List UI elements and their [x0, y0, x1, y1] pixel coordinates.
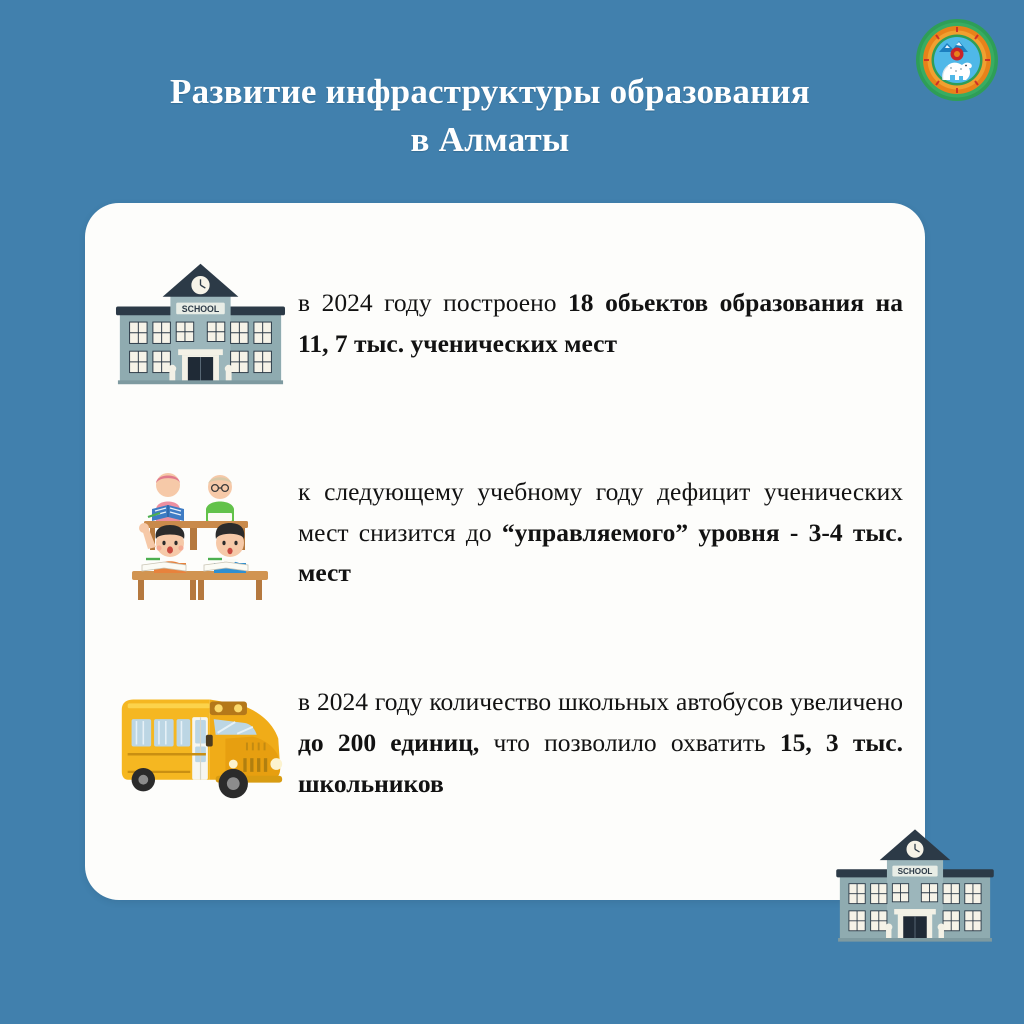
almaty-coat-of-arms-emblem: [915, 18, 999, 102]
emblem-icon: [915, 18, 999, 102]
page-title-line-1: Развитие инфраструктуры образования: [70, 68, 910, 116]
content-card: SCHOOL: [85, 203, 925, 900]
fact-3-regular-1: в 2024 году количество школьных автобусо…: [298, 687, 903, 716]
students-in-classroom-icon: [103, 458, 298, 608]
fact-text-school-buses: в 2024 году количество школьных автобусо…: [298, 682, 909, 804]
fact-row-school-buses: в 2024 году количество школьных автобусо…: [103, 671, 909, 816]
corner-school-graphic: SCHOOL: [829, 822, 1001, 949]
school-bus-graphic: [108, 678, 294, 810]
fact-row-student-deficit: к следующему учебному году дефицит учени…: [103, 458, 909, 608]
school-building-graphic: SCHOOL: [108, 256, 293, 392]
corner-school-sign-text: SCHOOL: [898, 867, 933, 876]
school-sign-text: SCHOOL: [182, 303, 220, 313]
school-building-icon: SCHOOL: [103, 251, 298, 396]
page-title-line-2: в Алматы: [70, 116, 910, 164]
students-graphic: [126, 463, 276, 603]
fact-1-regular-1: в 2024 году построено: [298, 288, 568, 317]
fact-text-student-deficit: к следующему учебному году дефицит учени…: [298, 472, 909, 594]
fact-3-bold-1: до 200 единиц,: [298, 728, 479, 757]
fact-3-regular-2: что позволило охватить: [479, 728, 780, 757]
school-bus-icon: [103, 671, 298, 816]
corner-school-building-decoration: SCHOOL: [829, 822, 1001, 944]
page-title: Развитие инфраструктуры образования в Ал…: [70, 68, 910, 163]
fact-text-school-construction: в 2024 году построено 18 обьектов образо…: [298, 283, 909, 365]
fact-row-school-construction: SCHOOL: [103, 251, 909, 396]
